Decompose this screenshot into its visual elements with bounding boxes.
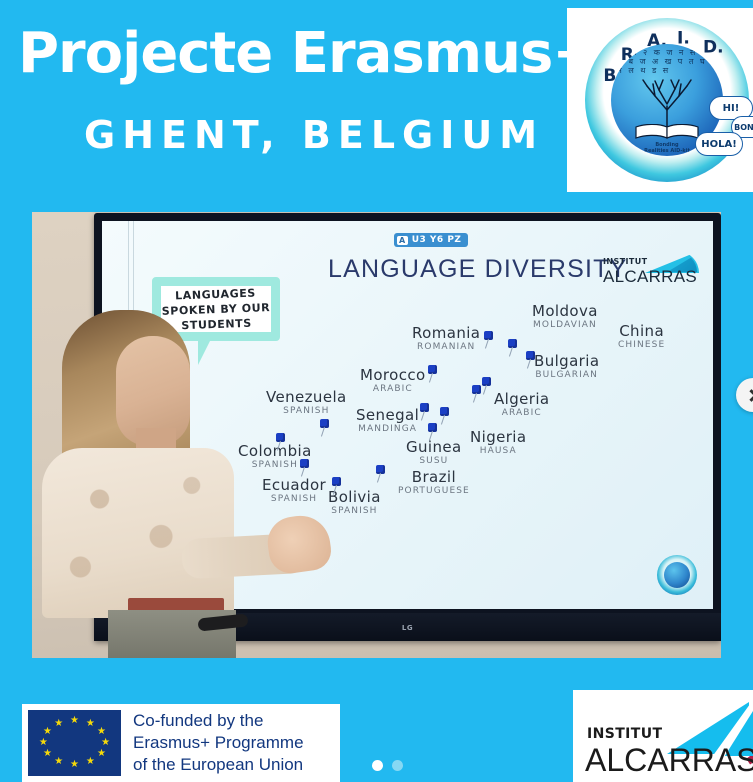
eu-funding-banner: ★ ★ ★ ★ ★ ★ ★ ★ ★ ★ ★ ★ Co-funded by the… [22,704,340,782]
carousel-dot-2[interactable] [392,760,403,771]
pushpin-icon [524,351,537,369]
page-title: Projecte Erasmus+ [18,26,598,82]
alcarras-institut-label: INSTITUT [587,726,662,742]
pushpin-icon [482,331,495,349]
chevron-right-icon [745,389,753,402]
country-label-romania: Romania ROMANIAN [412,325,480,353]
display-brand-logo: LG [402,624,413,632]
pushpin-icon [318,419,331,437]
country-label-algeria: Algeria ARABIC [494,391,550,419]
slide-tag-icon: A [397,236,408,245]
country-label-senegal: Senegal MANDINGA [356,407,419,435]
presenter-person [32,310,282,658]
pushpin-icon [438,407,451,425]
country-label-brazil: Brazil PORTUGUESE [398,469,470,497]
slide-logo-institut: INSTITUT [603,257,647,266]
eu-funding-text: Co-funded by the Erasmus+ Programme of t… [121,704,340,782]
country-label-moldova: Moldova MOLDAVIAN [532,303,598,331]
pushpin-icon [426,423,439,441]
braid-tagline-2: Realities AID-kit [644,148,690,154]
slide-braid-core [664,562,690,588]
slide-logo-alcarras: ALCARRAS [603,267,697,287]
institut-alcarras-banner: INSTITUT ALCARRAS [573,690,753,782]
country-label-nigeria: Nigeria HAUSA [470,429,526,457]
tree-icon [637,76,697,130]
pushpin-icon [374,465,387,483]
braid-tagline: Bonding Realities AID-kit [644,142,690,154]
eu-funding-line1: Co-funded by the [133,710,340,732]
slide-tag-badge: A U3 Y6 PZ [394,233,468,247]
pushpin-icon [298,459,311,477]
carousel-indicator[interactable] [372,760,403,771]
pushpin-icon [330,477,343,495]
slide-tag-label: U3 Y6 PZ [412,235,462,245]
book-icon [634,124,700,140]
country-label-morocco: Morocco ARABIC [360,367,426,395]
country-label-guinea: Guinea SUSU [406,439,462,467]
pushpin-icon [418,403,431,421]
pushpin-icon [426,365,439,383]
slide-institut-alcarras-logo: INSTITUT ALCARRAS [603,251,699,289]
header-banner: Projecte Erasmus+ GHENT, BELGIUM B. R. A… [0,0,753,200]
eu-funding-line3: of the European Union [133,754,340,776]
pushpin-icon [470,385,483,403]
page-subtitle: GHENT, BELGIUM [84,116,544,154]
country-label-bulgaria: Bulgaria BULGARIAN [534,353,599,381]
hola-bubble: HOLA! [695,132,743,156]
carousel-next-button[interactable] [736,378,753,412]
eu-funding-line2: Erasmus+ Programme [133,732,340,754]
slide-braid-logo [657,555,697,595]
presenter-blouse [42,448,234,618]
carousel-dot-1[interactable] [372,760,383,771]
alcarras-name-label: ALCARRAS [585,742,753,779]
eu-flag-icon: ★ ★ ★ ★ ★ ★ ★ ★ ★ ★ ★ ★ [28,710,121,776]
country-label-china: China CHINESE [618,323,665,351]
slide-title: LANGUAGE DIVERSITY [328,255,627,284]
presentation-photo: A U3 Y6 PZ LANGUAGE DIVERSITY LANGUAGES … [32,212,721,658]
braid-logo: B. R. A. I. D. मुं आ २ क ज न स य ध ब ज अ… [567,8,753,192]
pushpin-icon [506,339,519,357]
